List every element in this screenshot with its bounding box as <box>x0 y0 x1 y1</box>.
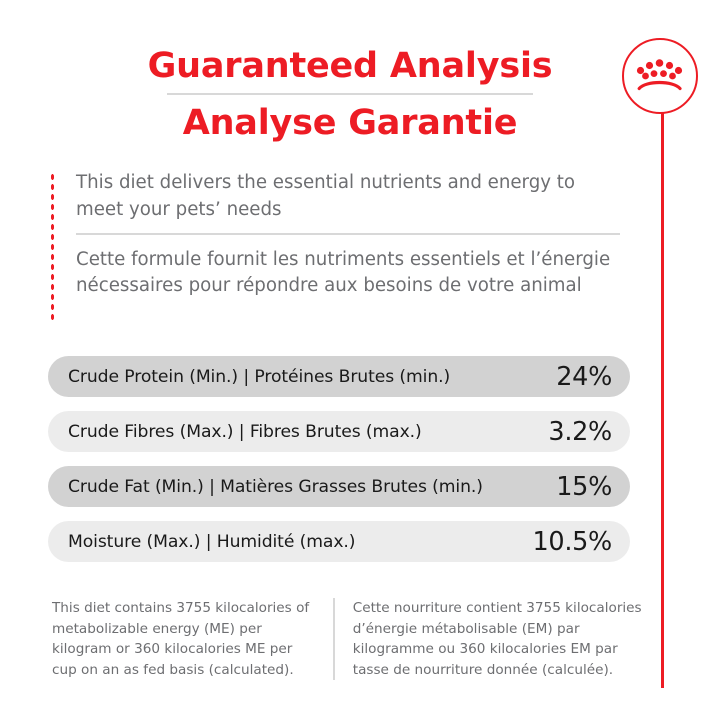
logo-stem-line <box>661 112 664 688</box>
nutrient-label: Crude Protein (Min.) | Protéines Brutes … <box>68 367 450 387</box>
title-divider <box>167 93 533 95</box>
nutrient-label: Moisture (Max.) | Humidité (max.) <box>68 532 355 552</box>
guaranteed-analysis-panel: Guaranteed Analysis Analyse Garantie Thi… <box>0 0 720 720</box>
nutrient-list: Crude Protein (Min.) | Protéines Brutes … <box>48 356 630 576</box>
footer-text-french: Cette nourriture contient 3755 kilocalor… <box>353 598 652 680</box>
nutrient-label: Crude Fibres (Max.) | Fibres Brutes (max… <box>68 422 422 442</box>
footer-section: This diet contains 3755 kilocalories of … <box>52 598 652 680</box>
nutrient-value: 24% <box>556 362 612 392</box>
title-english: Guaranteed Analysis <box>0 44 700 88</box>
dotted-accent-rail <box>50 172 55 320</box>
nutrient-value: 10.5% <box>532 527 612 557</box>
nutrient-row: Crude Protein (Min.) | Protéines Brutes … <box>48 356 630 397</box>
nutrient-row: Crude Fibres (Max.) | Fibres Brutes (max… <box>48 411 630 452</box>
nutrient-value: 15% <box>556 472 612 502</box>
nutrient-row: Moisture (Max.) | Humidité (max.) 10.5% <box>48 521 630 562</box>
intro-divider <box>76 233 620 235</box>
title-french: Analyse Garantie <box>0 101 700 145</box>
intro-text-french: Cette formule fournit les nutriments ess… <box>76 247 621 300</box>
intro-text-english: This diet delivers the essential nutrien… <box>76 170 621 223</box>
footer-text-english: This diet contains 3755 kilocalories of … <box>52 598 333 680</box>
nutrient-value: 3.2% <box>548 417 612 447</box>
nutrient-label: Crude Fat (Min.) | Matières Grasses Brut… <box>68 477 483 497</box>
footer-column-divider <box>333 598 334 680</box>
page-title: Guaranteed Analysis Analyse Garantie <box>0 44 700 145</box>
intro-section: This diet delivers the essential nutrien… <box>50 170 650 300</box>
nutrient-row: Crude Fat (Min.) | Matières Grasses Brut… <box>48 466 630 507</box>
